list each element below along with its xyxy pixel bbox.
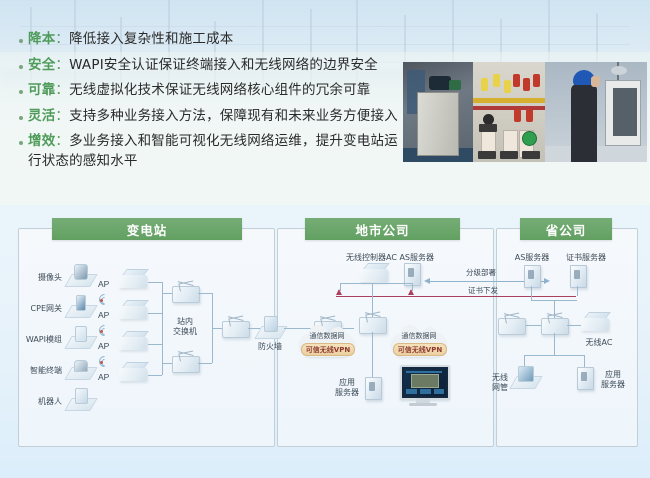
bullet-text: 灵活：支持多种业务接入方法，保障现有和未来业务方便接入: [28, 107, 398, 127]
label-province-app-server: 应用 服务器: [596, 370, 630, 390]
icon-wireless-nms: [513, 365, 537, 389]
flow-arrow-right: [544, 278, 550, 284]
icon-endpoint-wapi-module: [68, 325, 92, 349]
bullet-keyword: 增效: [28, 133, 55, 149]
bullet-separator: ：: [55, 82, 69, 98]
icon-station-switch-1: [172, 286, 200, 303]
photo-strip: [403, 62, 647, 162]
wifi-signal-icon: [99, 293, 111, 305]
label-station-switch-line2: 交换机: [173, 327, 197, 336]
label-endpoint-cpe-gateway: CPE网关: [6, 304, 62, 314]
bullet-dot-icon: [19, 39, 23, 43]
photo-cabinet-room: [403, 62, 473, 162]
icon-station-switch-2: [172, 356, 200, 373]
bullet-text: 可靠：无线虚拟化技术保证无线网络核心组件的冗余可靠: [28, 81, 371, 101]
bullet-body: 无线虚拟化技术保证无线网络核心组件的冗余可靠: [69, 82, 370, 98]
label-ap-4: AP: [98, 372, 109, 382]
header-city-company: 地市公司: [305, 218, 460, 240]
flow-arrow-left: [424, 278, 430, 284]
label-province-cert-server: 证书服务器: [558, 253, 614, 263]
label-endpoint-smart-terminal: 智能终端: [6, 366, 62, 376]
bullet-keyword: 安全: [28, 57, 55, 73]
cert-arrow-as-server: [408, 289, 414, 295]
architecture-diagram: 变电站 地市公司 省公司 摄像头 CPE网关 WAPI模组 智能终端 机器人 A…: [0, 205, 650, 478]
slide-page: 降本：降低接入复杂性和施工成本 安全：WAPI安全认证保证终端接入和无线网络的边…: [0, 0, 650, 478]
bullet-dot-icon: [19, 116, 23, 120]
icon-endpoint-camera: [68, 263, 92, 287]
icon-aggregation-switch: [222, 321, 250, 338]
header-province-company: 省公司: [520, 218, 612, 240]
photo-field-worker: [545, 62, 647, 162]
label-station-switch-line1: 站内: [177, 317, 193, 326]
monitor-visualization-screen: [400, 365, 450, 400]
bullet-separator: ：: [55, 31, 69, 47]
bullet-list: 降本：降低接入复杂性和施工成本 安全：WAPI安全认证保证终端接入和无线网络的边…: [16, 30, 408, 177]
badge-vpn-text: 可信无线VPN: [306, 345, 350, 355]
cert-bus-city: [336, 296, 454, 297]
label-endpoint-robot: 机器人: [10, 397, 62, 407]
icon-endpoint-cpe-gateway: [68, 294, 92, 318]
badge-trusted-wireless-vpn-left: 可信无线VPN: [301, 343, 355, 356]
label-ap-2: AP: [98, 310, 109, 320]
bullet-body: 降低接入复杂性和施工成本: [69, 31, 233, 47]
bullet-text: 增效：多业务接入和智能可视化无线网络运维，提升变电站运行状态的感知水平: [28, 132, 408, 171]
label-wireless-nms-line2: 网管: [492, 383, 508, 392]
icon-city-core-switch: [359, 317, 387, 334]
wifi-signal-icon: [99, 355, 111, 367]
bullet-text: 降本：降低接入复杂性和施工成本: [28, 30, 234, 50]
list-item: 增效：多业务接入和智能可视化无线网络运维，提升变电站运行状态的感知水平: [16, 132, 408, 171]
header-substation: 变电站: [52, 218, 242, 240]
label-wireless-ac: 无线AC: [578, 338, 620, 348]
label-city-app-server-line1: 应用: [339, 378, 355, 387]
bullet-separator: ：: [55, 57, 69, 73]
label-province-as-server: AS服务器: [508, 253, 556, 263]
icon-province-core-switch: [541, 318, 569, 335]
bullet-body: WAPI安全认证保证终端接入和无线网络的边界安全: [69, 57, 378, 73]
label-wireless-nms-line1: 无线: [492, 373, 508, 382]
label-station-switch: 站内 交换机: [162, 317, 208, 337]
icon-city-app-server: [365, 377, 382, 400]
list-item: 灵活：支持多种业务接入方法，保障现有和未来业务方便接入: [16, 107, 408, 127]
icon-province-as-server: [524, 265, 541, 288]
label-city-app-server: 应用 服务器: [330, 378, 364, 398]
bullet-separator: ：: [55, 108, 69, 124]
label-wireless-controller-as: 无线控制器AC AS服务器: [320, 253, 460, 263]
label-wireless-nms: 无线 网管: [486, 373, 514, 393]
label-comm-network-left: 通信数据网: [300, 331, 354, 341]
bullet-dot-icon: [19, 65, 23, 69]
label-endpoint-camera: 摄像头: [10, 273, 62, 283]
label-firewall: 防火墙: [248, 342, 292, 352]
bullet-dot-icon: [19, 141, 23, 145]
icon-province-app-server: [577, 367, 594, 390]
bullet-keyword: 灵活: [28, 108, 55, 124]
label-ap-1: AP: [98, 279, 109, 289]
label-comm-network-right: 通信数据网: [392, 331, 446, 341]
label-endpoint-wapi-module: WAPI模组: [2, 335, 62, 345]
list-item: 降本：降低接入复杂性和施工成本: [16, 30, 408, 50]
label-city-app-server-line2: 服务器: [335, 388, 359, 397]
badge-trusted-wireless-vpn-right: 可信无线VPN: [393, 343, 447, 356]
bullet-dot-icon: [19, 90, 23, 94]
icon-province-edge-switch: [498, 318, 526, 335]
label-cert-issue: 证书下发: [468, 285, 498, 296]
photo-control-panel: [473, 62, 545, 162]
wifi-signal-icon: [99, 324, 111, 336]
bullet-keyword: 可靠: [28, 82, 55, 98]
bullet-body: 支持多种业务接入方法，保障现有和未来业务方便接入: [69, 108, 398, 124]
list-item: 安全：WAPI安全认证保证终端接入和无线网络的边界安全: [16, 56, 408, 76]
list-item: 可靠：无线虚拟化技术保证无线网络核心组件的冗余可靠: [16, 81, 408, 101]
bullet-text: 安全：WAPI安全认证保证终端接入和无线网络的边界安全: [28, 56, 378, 76]
icon-firewall: [258, 315, 282, 339]
badge-vpn-text: 可信无线VPN: [398, 345, 442, 355]
label-province-app-server-line1: 应用: [605, 370, 621, 379]
label-ap-3: AP: [98, 341, 109, 351]
icon-endpoint-smart-terminal: [68, 356, 92, 380]
flow-cert-issue: [454, 296, 576, 297]
label-province-app-server-line2: 服务器: [601, 380, 625, 389]
bullet-keyword: 降本: [28, 31, 55, 47]
icon-province-cert-server: [570, 265, 587, 288]
bullet-separator: ：: [55, 133, 69, 149]
label-tiered-deployment: 分级部署: [466, 267, 496, 278]
bullet-body: 多业务接入和智能可视化无线网络运维，提升变电站运行状态的感知水平: [28, 133, 398, 169]
cert-arrow-controller: [336, 289, 342, 295]
icon-endpoint-robot: [68, 387, 92, 411]
